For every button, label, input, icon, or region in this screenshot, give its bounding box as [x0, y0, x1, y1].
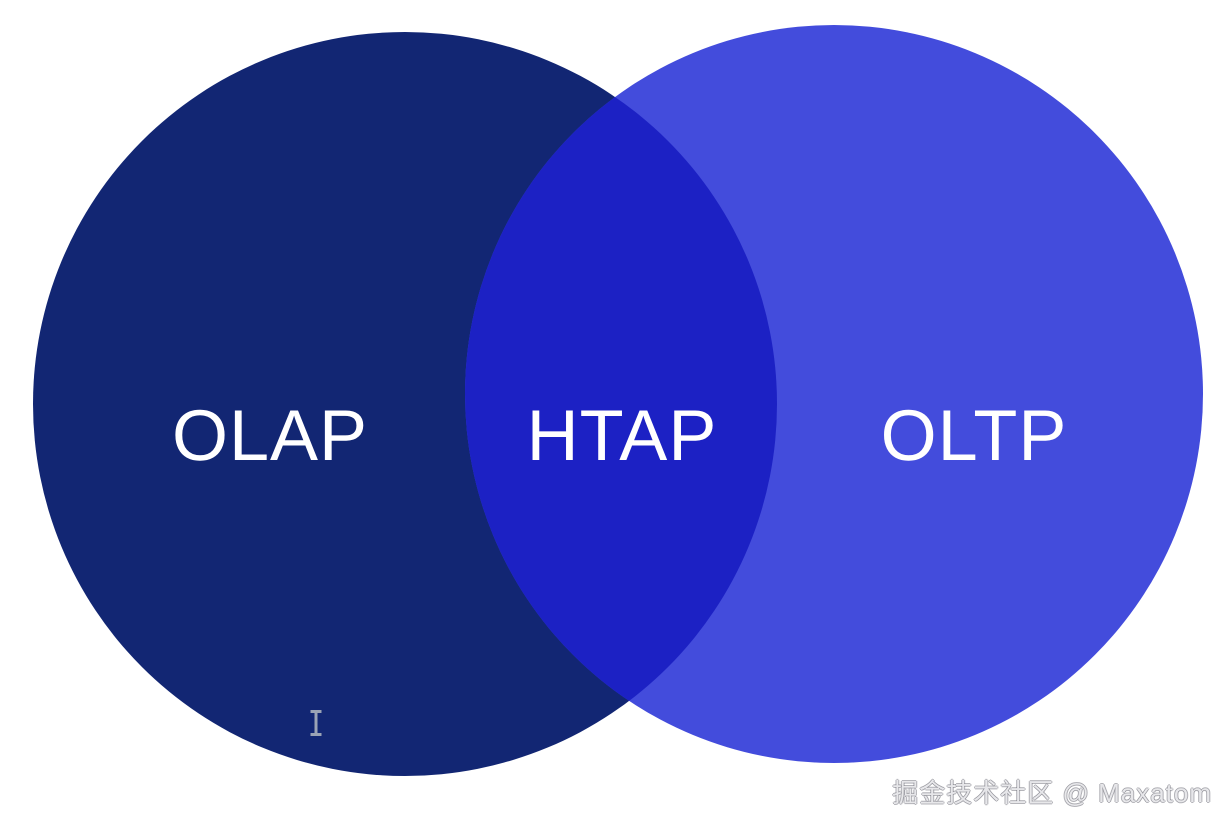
ibeam-stem — [315, 713, 318, 733]
set-label-oltp: OLTP — [881, 400, 1068, 472]
set-label-htap: HTAP — [527, 400, 718, 472]
venn-diagram-canvas: OLAP HTAP OLTP 掘金技术社区 @ Maxatom — [0, 0, 1230, 828]
set-label-olap: OLAP — [172, 400, 368, 472]
ibeam-bottom-serif — [311, 733, 322, 736]
text-ibeam-cursor — [315, 710, 318, 736]
